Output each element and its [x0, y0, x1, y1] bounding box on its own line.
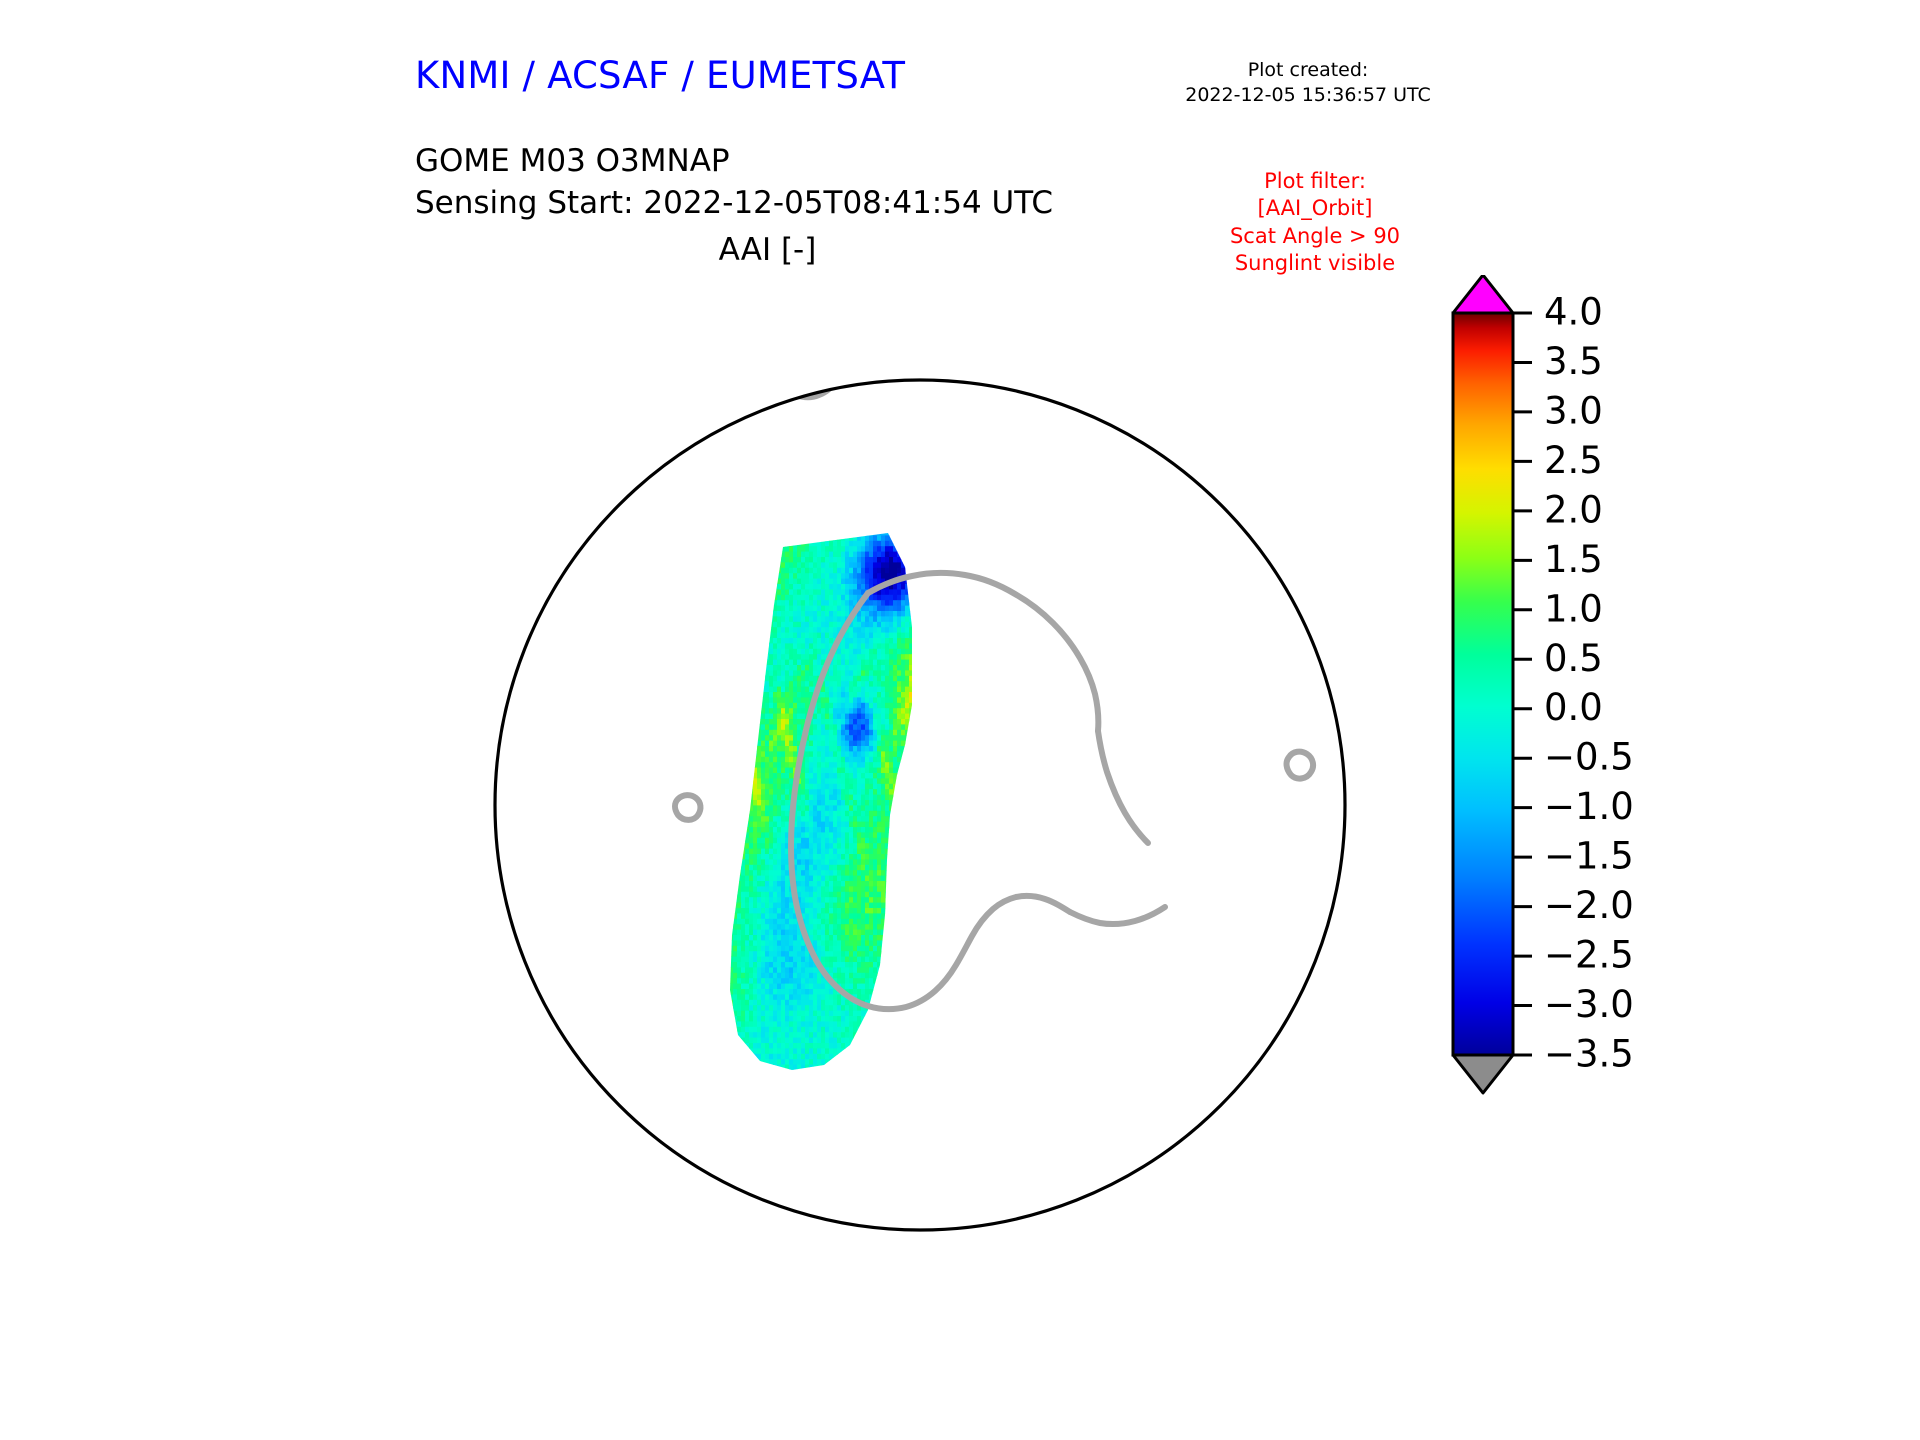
- colorbar-tick-label: −2.0: [1544, 884, 1634, 927]
- colorbar-tick-label: −3.0: [1544, 983, 1634, 1026]
- map-background: [400, 275, 1440, 1335]
- colorbar-tick-label: −3.5: [1544, 1033, 1634, 1076]
- colorbar-panel: 4.03.53.02.52.01.51.00.50.0−0.5−1.0−1.5−…: [1440, 275, 1670, 1335]
- colorbar-tick-label: −0.5: [1544, 736, 1634, 779]
- plot-filter-line-0: Plot filter:: [1185, 168, 1445, 195]
- sensing-start-title: Sensing Start: 2022-12-05T08:41:54 UTC: [415, 182, 1053, 224]
- colorbar-ticks: 4.03.53.02.52.01.51.00.50.0−0.5−1.0−1.5−…: [1513, 291, 1634, 1076]
- plot-filter-line-1: [AAI_Orbit]: [1185, 195, 1445, 222]
- colorbar-tick-label: 1.5: [1544, 538, 1603, 581]
- colorbar-tick-label: 3.5: [1544, 340, 1603, 383]
- page-title: GOME M03 O3MNAP Sensing Start: 2022-12-0…: [415, 140, 1053, 224]
- colorbar-tick-label: 1.0: [1544, 587, 1603, 630]
- instrument-title: GOME M03 O3MNAP: [415, 140, 1053, 182]
- colorbar-tick-label: −1.5: [1544, 835, 1634, 878]
- plot-filter-block: Plot filter: [AAI_Orbit] Scat Angle > 90…: [1185, 168, 1445, 277]
- colorbar-tick-label: 0.5: [1544, 637, 1603, 680]
- colorbar-gradient: [1453, 313, 1513, 1055]
- plot-created-label: Plot created:: [1168, 58, 1448, 83]
- org-link[interactable]: KNMI / ACSAF / EUMETSAT: [415, 54, 905, 97]
- plot-filter-line-3: Sunglint visible: [1185, 250, 1445, 277]
- colorbar-tick-label: 2.5: [1544, 439, 1603, 482]
- plot-created-timestamp: 2022-12-05 15:36:57 UTC: [1168, 83, 1448, 108]
- colorbar-under-arrow: [1453, 1055, 1513, 1093]
- map-panel: [400, 275, 1440, 1335]
- colorbar-tick-label: −1.0: [1544, 785, 1634, 828]
- colorbar-over-arrow: [1453, 275, 1513, 313]
- plot-filter-line-2: Scat Angle > 90: [1185, 223, 1445, 250]
- colorbar-tick-label: 0.0: [1544, 686, 1603, 729]
- colorbar-tick-label: 4.0: [1544, 291, 1603, 334]
- variable-title: AAI [-]: [415, 232, 1120, 268]
- colorbar-tick-label: 3.0: [1544, 389, 1603, 432]
- plot-created-block: Plot created: 2022-12-05 15:36:57 UTC: [1168, 58, 1448, 108]
- colorbar-tick-label: −2.5: [1544, 934, 1634, 977]
- colorbar-tick-label: 2.0: [1544, 488, 1603, 531]
